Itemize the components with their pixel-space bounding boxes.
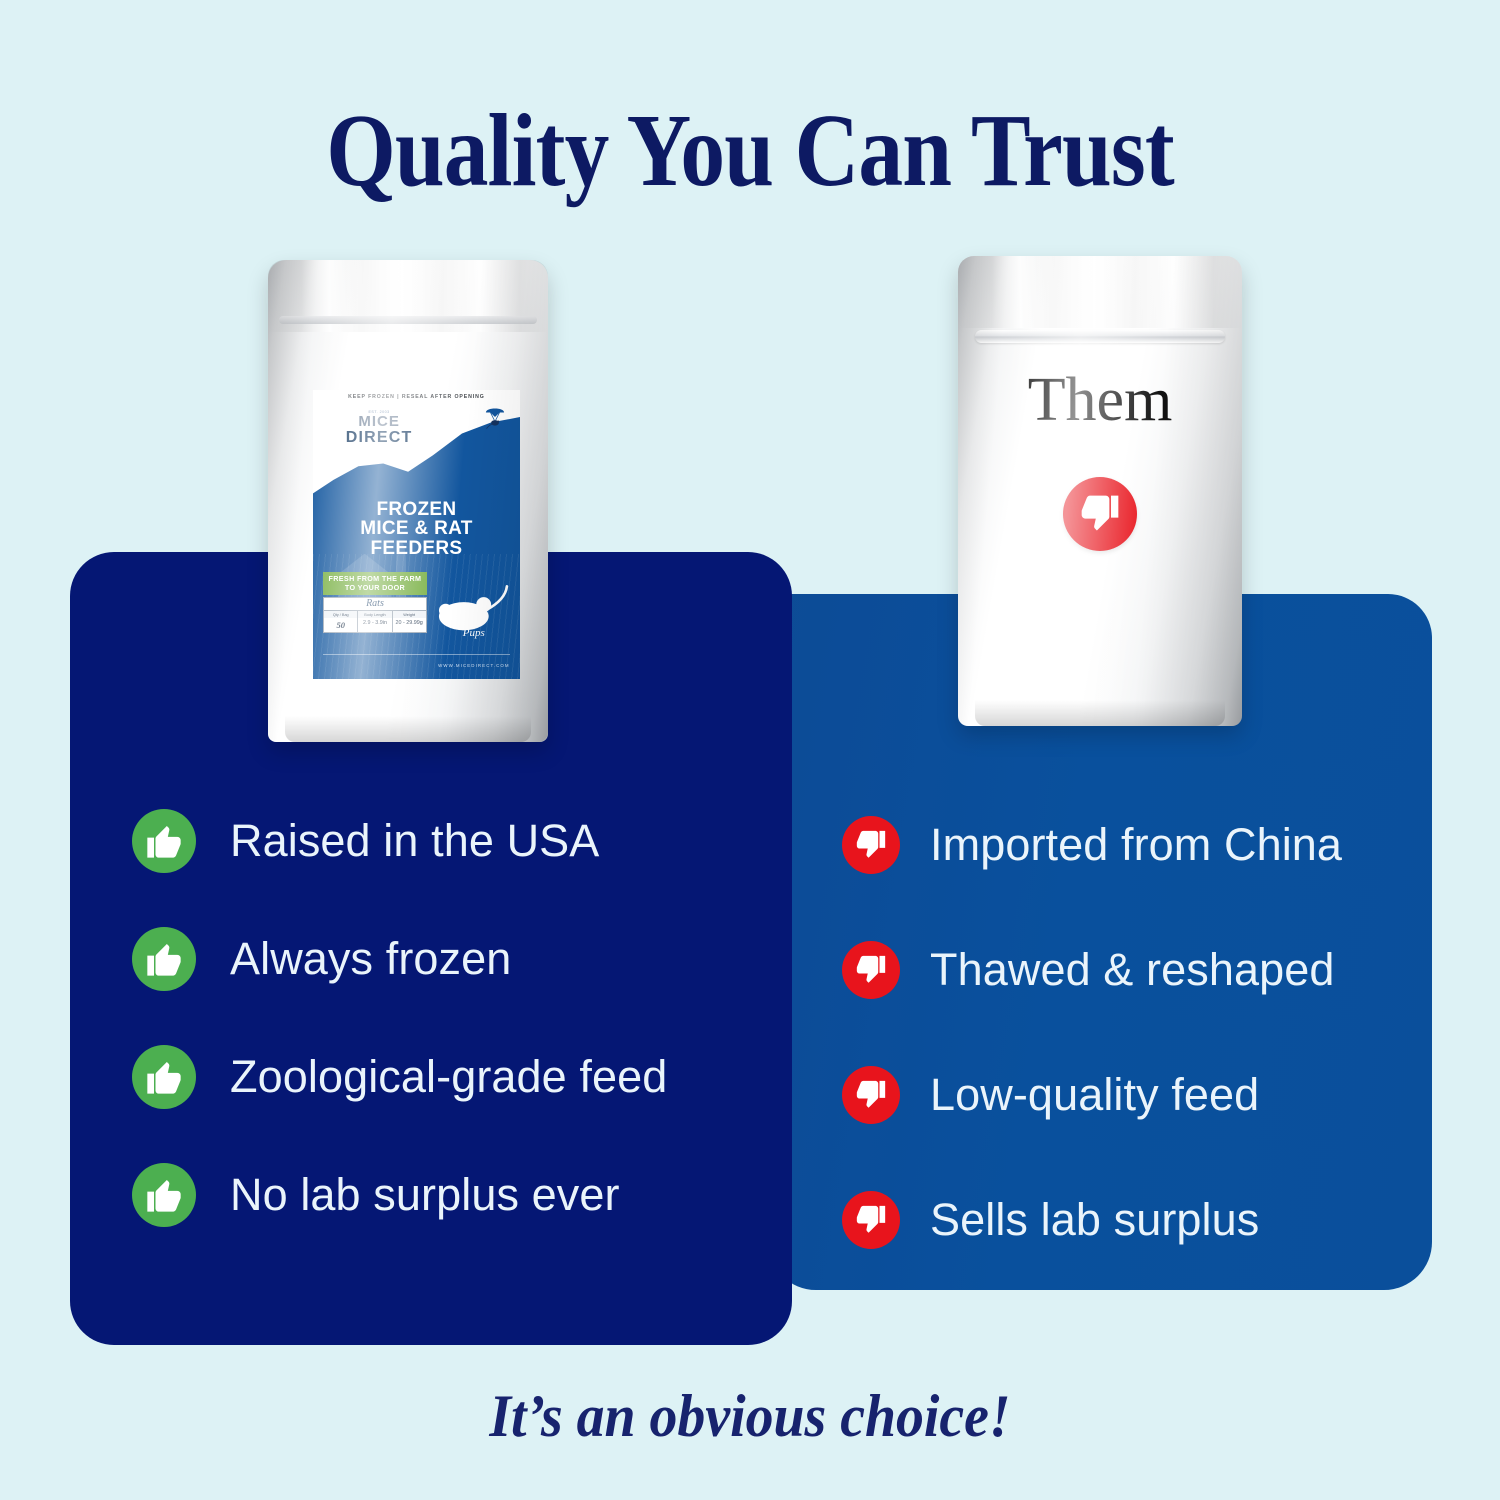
bag-bottom-shadow (285, 716, 531, 742)
thumbs-up-icon (132, 809, 196, 873)
freshness-banner: FRESH FROM THE FARM TO YOUR DOOR (323, 572, 427, 595)
parachute-mouse-icon (482, 404, 508, 430)
keep-frozen-text: KEEP FROZEN | RESEAL AFTER OPENING (313, 394, 520, 400)
bag-top-crimp (958, 256, 1242, 328)
list-item: Zoological-grade feed (132, 1018, 772, 1136)
list-item: Low-quality feed (842, 1032, 1402, 1157)
drawbacks-list: Imported from China Thawed & reshaped Lo… (842, 782, 1402, 1282)
list-item-label: Imported from China (930, 819, 1342, 871)
headline-line-3: FEEDERS (313, 539, 520, 558)
bag-top-edge (279, 316, 537, 324)
spec-header-weight: Weight (393, 611, 426, 618)
list-item-label: Raised in the USA (230, 815, 599, 867)
spec-table-title: Rats (324, 598, 426, 612)
brand-logo: EST. 2003 MICE DIRECT (325, 410, 433, 447)
list-item: Thawed & reshaped (842, 907, 1402, 1032)
list-item: Sells lab surplus (842, 1157, 1402, 1282)
website-url: WWW.MICEDIRECT.COM (438, 663, 510, 668)
list-item-label: Low-quality feed (930, 1069, 1259, 1121)
banner-line-2: TO YOUR DOOR (325, 584, 425, 592)
thumbs-down-icon (842, 941, 900, 999)
thumbs-up-icon (132, 927, 196, 991)
list-item-label: No lab surplus ever (230, 1169, 620, 1221)
logo-mice-text: MICE (325, 414, 433, 429)
spec-table-value-row: 50 2.9 - 3.9in 20 - 29.99g (324, 618, 426, 632)
logo-direct-text: DIRECT (325, 429, 433, 447)
list-item-label: Sells lab surplus (930, 1194, 1259, 1246)
benefits-list: Raised in the USA Always frozen Zoologic… (132, 782, 772, 1254)
label-headline: FROZEN MICE & RAT FEEDERS (313, 500, 520, 558)
product-label: KEEP FROZEN | RESEAL AFTER OPENING EST. … (313, 390, 520, 679)
thumbs-down-icon (842, 1191, 900, 1249)
thumbs-down-icon (842, 816, 900, 874)
bag-bottom-shadow (975, 700, 1225, 726)
thumbs-up-icon (132, 1163, 196, 1227)
thumbs-down-icon (842, 1066, 900, 1124)
spec-table: Rats Qty / Bag Body Length Weight 50 2.9… (323, 597, 427, 634)
size-name-text: Pups (463, 627, 485, 639)
headline-line-1: FROZEN (313, 500, 520, 519)
thumbs-down-icon (1063, 477, 1137, 551)
list-item-label: Always frozen (230, 933, 511, 985)
spec-value-qty: 50 (324, 618, 358, 632)
bag-zipper-seal (975, 330, 1225, 343)
list-item: No lab surplus ever (132, 1136, 772, 1254)
list-item: Raised in the USA (132, 782, 772, 900)
spec-header-length: Body Length (358, 611, 392, 618)
spec-value-weight: 20 - 29.99g (393, 618, 426, 632)
page-title: Quality You Can Trust (105, 96, 1395, 205)
micedirect-product-bag: KEEP FROZEN | RESEAL AFTER OPENING EST. … (268, 260, 548, 742)
spec-value-length: 2.9 - 3.9in (358, 618, 392, 632)
comparison-graphic: Quality You Can Trust KEEP FROZEN | RESE… (0, 0, 1500, 1500)
list-item: Always frozen (132, 900, 772, 1018)
competitor-label-text: Them (958, 369, 1242, 431)
thumbs-up-icon (132, 1045, 196, 1109)
spec-header-qty: Qty / Bag (324, 611, 358, 618)
list-item: Imported from China (842, 782, 1402, 907)
spec-table-header-row: Qty / Bag Body Length Weight (324, 611, 426, 618)
list-item-label: Zoological-grade feed (230, 1051, 667, 1103)
footer-tagline: It’s an obvious choice! (53, 1382, 1448, 1451)
headline-line-2: MICE & RAT (313, 519, 520, 538)
list-item-label: Thawed & reshaped (930, 944, 1334, 996)
competitor-product-bag: Them (958, 256, 1242, 726)
label-divider (323, 654, 509, 655)
